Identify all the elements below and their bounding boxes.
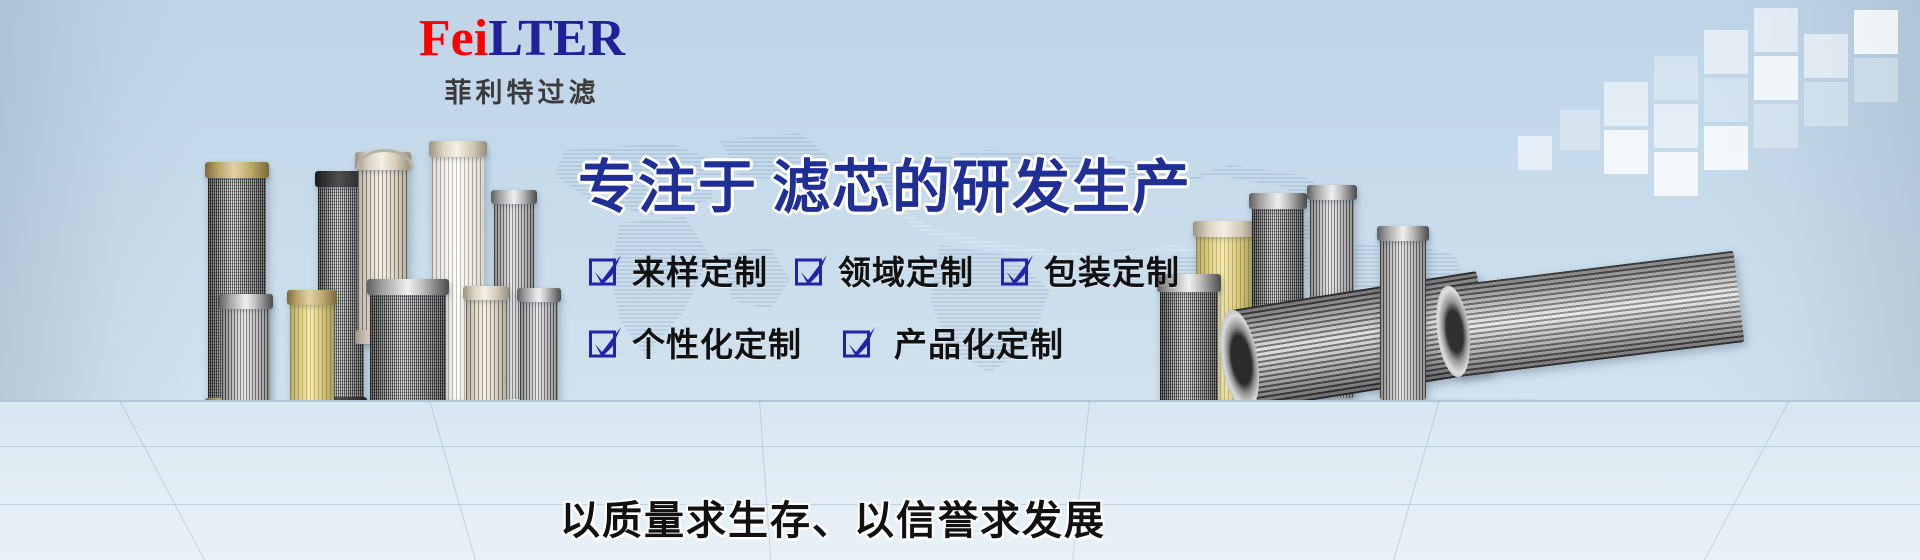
checkbox-checked-icon bbox=[588, 253, 622, 287]
logo-wordmark: FeiLTER bbox=[392, 12, 652, 67]
logo-wordmark-lter: LTER bbox=[488, 10, 625, 67]
slogan: 以质量求生存、以信誉求发展 bbox=[560, 488, 1106, 546]
filter-cartridge bbox=[466, 292, 506, 414]
feature-row: 来样定制 领域定制 包装定制 bbox=[588, 246, 1206, 294]
filter-cartridge bbox=[290, 296, 334, 412]
feature-label: 来样定制 bbox=[632, 246, 768, 294]
headline: 专注于滤芯的研发生产 bbox=[578, 140, 1192, 224]
logo-wordmark-fei: Fei bbox=[419, 10, 488, 67]
feature-item[interactable]: 来样定制 bbox=[588, 246, 768, 294]
feature-item[interactable]: 个性化定制 bbox=[588, 318, 802, 366]
filter-cartridge bbox=[370, 286, 446, 414]
feature-row: 个性化定制 产品化定制 bbox=[588, 318, 1206, 366]
logo-chinese-name: 菲利特过滤 bbox=[392, 71, 652, 110]
feature-label: 产品化定制 bbox=[894, 318, 1064, 366]
background-vignette-left bbox=[0, 0, 200, 400]
filter-cartridge bbox=[222, 300, 270, 412]
feature-label: 个性化定制 bbox=[632, 318, 802, 366]
checkbox-checked-icon bbox=[588, 325, 622, 359]
filter-cartridge bbox=[1380, 232, 1426, 400]
product-banner: FeiLTER 菲利特过滤 专注于滤芯的研发生产 来样定制 领域定制 bbox=[0, 0, 1920, 560]
checkbox-checked-icon bbox=[842, 325, 876, 359]
feature-item[interactable]: 包装定制 bbox=[1000, 246, 1180, 294]
checkbox-checked-icon bbox=[794, 253, 828, 287]
feature-label: 领域定制 bbox=[838, 246, 974, 294]
headline-part1: 专注于 bbox=[578, 153, 758, 221]
feature-list: 来样定制 领域定制 包装定制 bbox=[588, 246, 1206, 384]
cartridge-handle bbox=[352, 138, 418, 172]
headline-part2: 滤芯的研发生产 bbox=[772, 153, 1192, 221]
feature-item[interactable]: 领域定制 bbox=[794, 246, 974, 294]
checkbox-checked-icon bbox=[1000, 253, 1034, 287]
feature-item[interactable]: 产品化定制 bbox=[842, 318, 1064, 366]
logo[interactable]: FeiLTER 菲利特过滤 bbox=[392, 12, 652, 110]
feature-label: 包装定制 bbox=[1044, 246, 1180, 294]
filter-cartridge bbox=[520, 294, 558, 412]
